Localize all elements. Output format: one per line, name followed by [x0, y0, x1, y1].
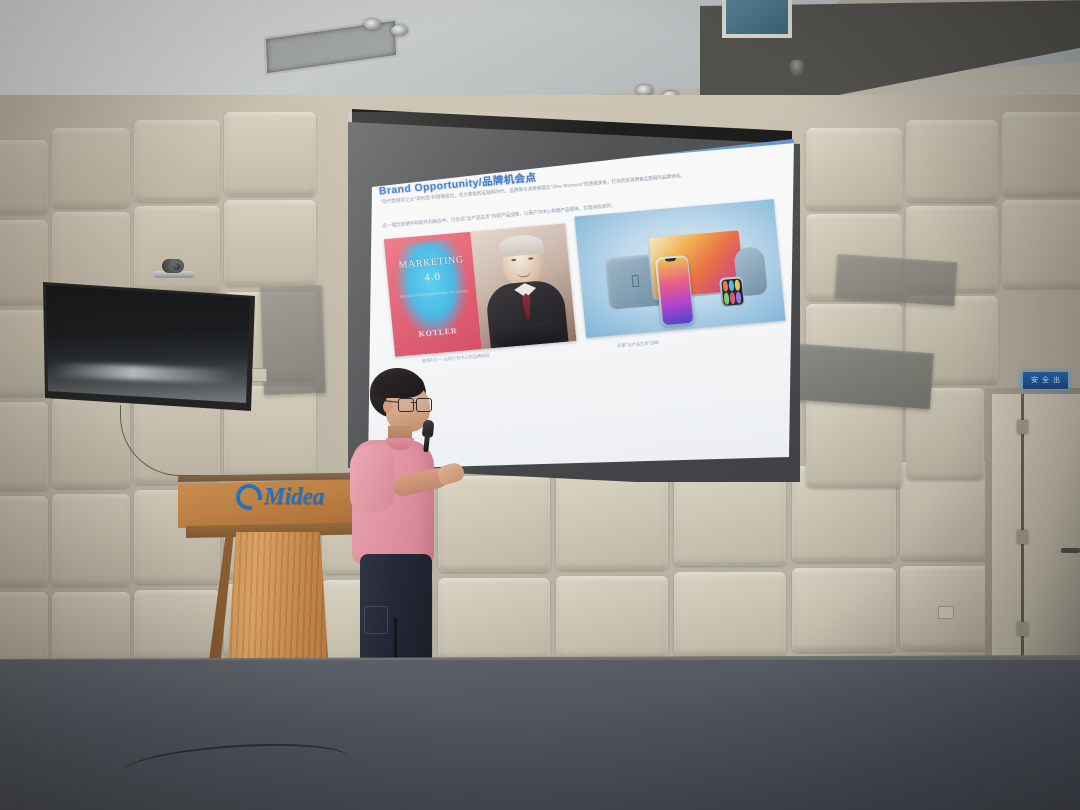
slide-image-marketing-book: MARKETING 4.0 MOVING FROM TRADITIONAL TO… — [384, 223, 577, 356]
wall-pad — [52, 128, 130, 208]
exit-sign: 安 全 出 — [1022, 371, 1069, 390]
wall-pad — [224, 112, 316, 196]
book-cover: MARKETING 4.0 MOVING FROM TRADITIONAL TO… — [384, 232, 482, 357]
wall-plate-icon — [938, 606, 954, 619]
exit-sign-char: 出 — [1053, 377, 1060, 384]
door-hinge-icon — [1017, 530, 1028, 544]
exit-sign-char: 全 — [1042, 377, 1049, 384]
door-hinge-icon — [1017, 420, 1028, 434]
ceiling-camera-icon — [790, 60, 804, 76]
gray-acoustic-panel — [835, 254, 958, 306]
gray-acoustic-panel — [260, 285, 326, 395]
wall-pad — [0, 496, 48, 586]
wall-pad — [806, 396, 902, 488]
door-handle-icon[interactable] — [1061, 548, 1080, 553]
wall-pad — [134, 120, 220, 202]
downlight-icon — [364, 19, 381, 30]
author-portrait — [470, 223, 576, 349]
wall-pad — [0, 220, 48, 304]
wall-pad — [0, 592, 48, 664]
apple-watch-screen — [721, 278, 743, 306]
gray-acoustic-panel — [782, 343, 934, 409]
wall-pad — [792, 568, 896, 652]
exit-sign-char: 安 — [1031, 377, 1038, 384]
wall-pad — [0, 140, 48, 214]
wall-pad — [1002, 112, 1080, 196]
handheld-microphone-icon — [420, 420, 434, 451]
portrait-crossed-arms — [492, 320, 566, 348]
upper-window — [722, 0, 792, 38]
midea-wordmark: Midea — [264, 484, 324, 510]
midea-swirl-icon — [236, 484, 262, 510]
camera-lens-icon — [173, 263, 180, 270]
wall-socket-icon — [252, 368, 267, 382]
wall-pad — [906, 120, 998, 202]
wall-pad — [0, 402, 48, 490]
presenter-cargo-pocket — [364, 606, 388, 634]
wall-pad — [224, 200, 316, 286]
conference-room-photo: 安 全 出 Brand Opportunity/品牌机会点 "现代营销学之父"菲… — [0, 0, 1080, 810]
wall-pad — [134, 206, 220, 292]
wall-pad — [52, 494, 130, 586]
slide-caption-right: 苹果"全产品生态"战略 — [617, 340, 659, 350]
downlight-icon — [391, 25, 408, 36]
door-hinge-icon — [1017, 622, 1028, 636]
iphone-screen — [656, 256, 692, 324]
wall-pad — [1002, 200, 1080, 288]
slide-image-apple-ecosystem:  — [574, 199, 785, 338]
apple-logo-icon:  — [628, 273, 642, 289]
wall-pad — [806, 128, 902, 210]
glasses-icon — [398, 398, 430, 411]
midea-logo: Midea — [236, 484, 324, 510]
wall-pad — [556, 576, 668, 658]
presenter-fringe — [374, 372, 424, 398]
wall-pad — [674, 572, 786, 656]
ptz-conference-camera — [160, 259, 186, 277]
portrait-hair — [498, 233, 544, 257]
slide-caption-left: 营销4.0 — 以用户为中心的品牌体验 — [421, 353, 489, 365]
iphone-device — [655, 255, 695, 327]
apple-watch-device — [719, 276, 745, 307]
wall-mounted-tv-screen[interactable] — [46, 280, 250, 405]
presenter-hand — [436, 461, 466, 486]
wall-pad — [52, 398, 130, 488]
wall-pad — [52, 592, 130, 662]
presenter-sleeve — [350, 446, 394, 512]
wall-pad — [0, 310, 48, 396]
